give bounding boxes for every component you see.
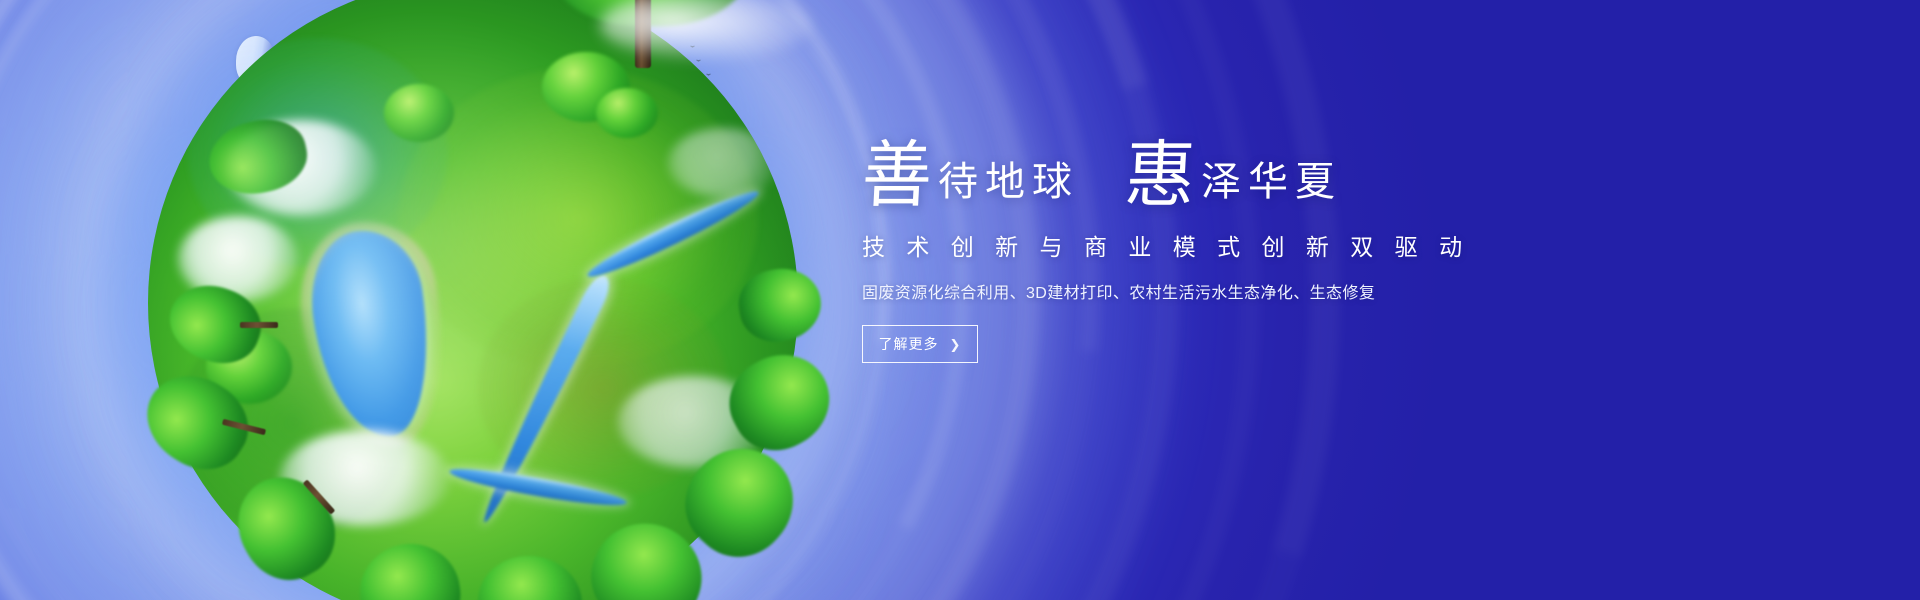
hero-tree-trunk [635,0,651,68]
tree-canopy [596,88,658,138]
tree-canopy [542,52,630,122]
tree-trunk [222,419,266,435]
cloud [280,430,450,526]
terrain-patch [478,278,728,498]
river [448,463,628,512]
page-subtitle: 技 术 创 新 与 商 业 模 式 创 新 双 驱 动 [862,228,1482,262]
tree-trunk [303,479,336,514]
hero-copy: 善 待地球 惠 泽华夏 技 术 创 新 与 商 业 模 式 创 新 双 驱 动 … [862,126,1482,363]
headline-char-hui: 惠 [1123,141,1197,211]
balloon-basket [249,100,263,109]
river [474,273,615,525]
edge-tree [159,273,271,374]
edge-tree [203,112,314,203]
hero-banner: 善 待地球 惠 泽华夏 技 术 创 新 与 商 业 模 式 创 新 双 驱 动 … [0,0,1920,600]
cloud [668,128,778,198]
hero-tree-canopy [552,0,748,26]
page-title: 善 待地球 惠 泽华夏 [862,126,1482,210]
headline-text-zehuaxia: 泽华夏 [1195,162,1342,210]
terrain-patch [178,308,408,538]
headline-char-shan: 善 [860,141,934,211]
learn-more-label: 了解更多 [879,334,939,354]
cloud [178,216,298,302]
edge-tree [733,262,826,347]
river [583,183,763,284]
terrain-patch [398,68,758,368]
terrain-patch [188,38,448,268]
headline-text-daidiqiu: 待地球 [932,162,1079,210]
learn-more-button[interactable]: 了解更多 ❯ [862,325,978,363]
edge-tree [220,460,352,596]
edge-tree [714,338,845,466]
tree-trunk [240,322,278,328]
cloud [618,376,768,468]
tree-canopy [384,84,454,142]
cloud [226,120,376,216]
balloon-envelope [236,36,276,86]
lake [302,223,442,445]
edge-tree [130,358,264,486]
hero-tree-mist [600,0,810,60]
edge-tree [354,538,466,600]
lake-shore [291,214,457,457]
hot-air-balloon-icon [236,36,276,110]
tree-canopy [170,398,240,460]
edge-tree [473,551,586,600]
tree-canopy [206,330,292,404]
chevron-right-icon: ❯ [950,338,962,351]
edge-tree [665,427,815,577]
page-tagline: 固废资源化综合利用、3D建材打印、农村生活污水生态净化、生态修复 [862,279,1482,303]
edge-tree [577,507,718,600]
